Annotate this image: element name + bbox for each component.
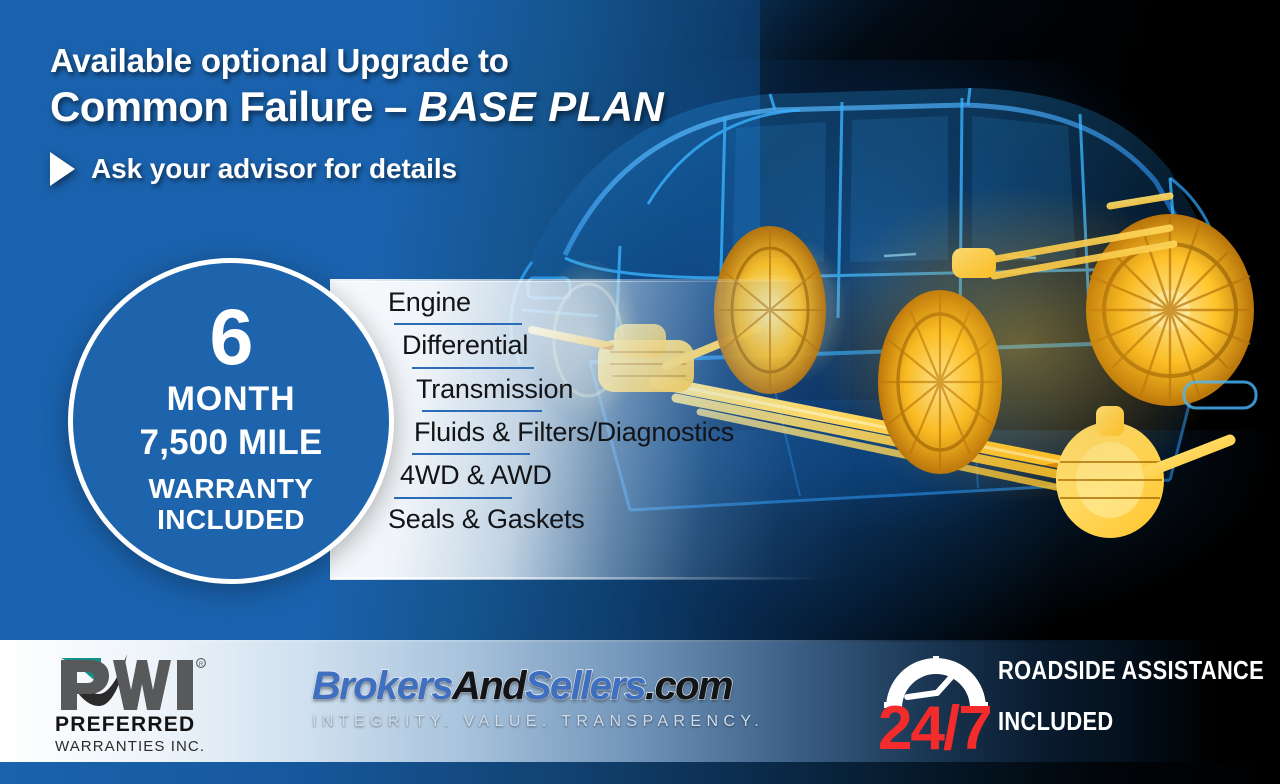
coverage-label: Engine	[388, 288, 858, 316]
svg-text:R: R	[199, 662, 204, 668]
roadside-assistance-block: 24/7 ROADSIDE ASSISTANCE INCLUDED	[876, 640, 1266, 762]
list-item: 4WD & AWD	[388, 461, 858, 498]
roadside-line-2: INCLUDED	[998, 708, 1225, 734]
pwi-preferred-text: PREFERRED	[55, 714, 215, 735]
badge-term-unit: MONTH	[167, 380, 296, 419]
brokersandsellers-wordmark: BrokersAndSellers.com	[312, 666, 802, 706]
headline-line-2-prefix: Common Failure –	[50, 83, 418, 130]
coverage-label: Transmission	[416, 375, 858, 403]
badge-warranty-line-2: INCLUDED	[149, 504, 314, 535]
cta-row[interactable]: Ask your advisor for details	[50, 152, 810, 186]
brokersandsellers-tagline: INTEGRITY. VALUE. TRANSPARENCY.	[312, 713, 802, 731]
headline-line-1: Available optional Upgrade to	[50, 42, 810, 80]
cta-label: Ask your advisor for details	[91, 153, 457, 185]
coverage-label: Fluids & Filters/Diagnostics	[414, 418, 858, 446]
coverage-divider	[412, 453, 530, 455]
badge-mileage: 7,500 MILE	[140, 423, 323, 463]
warranty-badge: 6 MONTH 7,500 MILE WARRANTY INCLUDED	[68, 258, 394, 584]
coverage-list: Engine Differential Transmission Fluids …	[388, 288, 858, 533]
pwi-warranties-text: WARRANTIES INC.	[55, 739, 215, 754]
roadside-line-1: ROADSIDE ASSISTANCE	[998, 657, 1225, 683]
coverage-divider	[422, 410, 542, 412]
coverage-divider	[412, 367, 534, 369]
coverage-panel-top-edge	[330, 279, 830, 282]
coverage-label: 4WD & AWD	[400, 461, 858, 489]
list-item: Differential	[388, 331, 858, 368]
coverage-label: Seals & Gaskets	[388, 505, 858, 533]
badge-warranty-note: WARRANTY INCLUDED	[149, 473, 314, 536]
coverage-divider	[394, 323, 522, 325]
play-triangle-icon	[50, 152, 75, 186]
badge-warranty-line-1: WARRANTY	[149, 473, 314, 504]
coverage-label: Differential	[402, 331, 858, 359]
pwi-logo[interactable]: R PREFERRED WARRANTIES INC.	[55, 650, 215, 754]
list-item: Engine	[388, 288, 858, 325]
headline-block: Available optional Upgrade to Common Fai…	[50, 42, 810, 186]
pwi-wordmark: R	[55, 650, 215, 712]
list-item: Seals & Gaskets	[388, 505, 858, 533]
coverage-panel-bottom-edge	[330, 577, 820, 580]
footer-bottom-strip	[0, 762, 1280, 784]
badge-term-number: 6	[210, 301, 253, 372]
bas-part-sellers: Sellers	[525, 664, 645, 708]
promo-banner: Available optional Upgrade to Common Fai…	[0, 0, 1280, 784]
bas-part-brokers: Brokers	[312, 664, 452, 708]
list-item: Fluids & Filters/Diagnostics	[388, 418, 858, 455]
bas-part-and: And	[452, 664, 525, 708]
brokersandsellers-logo[interactable]: BrokersAndSellers.com INTEGRITY. VALUE. …	[312, 666, 802, 746]
roadside-text-block: ROADSIDE ASSISTANCE INCLUDED	[998, 657, 1268, 734]
headline-plan-name: BASE PLAN	[418, 83, 664, 130]
list-item: Transmission	[388, 375, 858, 412]
headline-line-2: Common Failure – BASE PLAN	[50, 84, 810, 130]
coverage-divider	[394, 497, 512, 499]
bas-part-dotcom: .com	[645, 664, 732, 708]
hours-label: 24/7	[878, 698, 991, 760]
